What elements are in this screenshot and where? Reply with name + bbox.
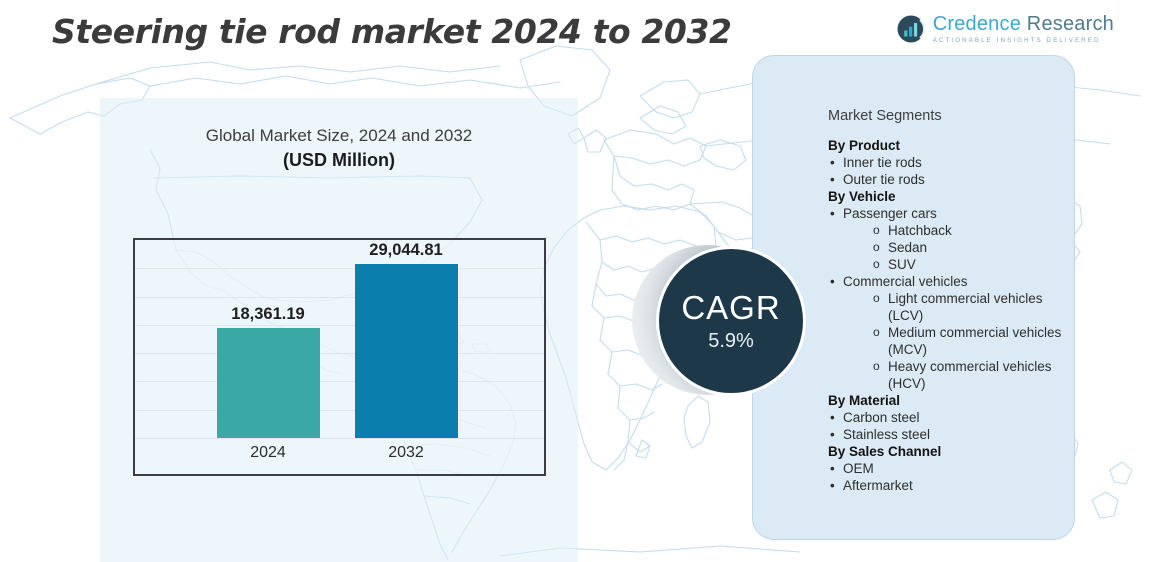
segment-item: Carbon steel [828, 409, 1078, 426]
segment-group-title: By Sales Channel [828, 443, 1078, 460]
cagr-circle: CAGR 5.9% [656, 246, 806, 396]
page-title: Steering tie rod market 2024 to 2032 [52, 12, 732, 51]
cagr-badge: CAGR 5.9% [632, 245, 808, 397]
logo-name-primary: Credence [933, 13, 1021, 35]
market-segments-content: Market Segments By ProductInner tie rods… [828, 108, 1078, 494]
chart-title: Global Market Size, 2024 and 2032 [100, 126, 578, 146]
chart-category-label: 2032 [388, 444, 424, 462]
segment-subitem: Hatchback [828, 222, 1078, 239]
segment-item: OEM [828, 460, 1078, 477]
logo-name: Credence Research [933, 14, 1114, 34]
segment-item: Commercial vehicles [828, 273, 1078, 290]
chart-category-label: 2024 [250, 444, 286, 462]
segment-item: Passenger cars [828, 205, 1078, 222]
market-segments-heading: Market Segments [828, 108, 1078, 124]
bar-chart: 18,361.19202429,044.812032 [133, 238, 546, 476]
cagr-value: 5.9% [708, 331, 754, 351]
segment-subitem: Light commercial vehicles (LCV) [828, 290, 1078, 324]
segment-item: Outer tie rods [828, 171, 1078, 188]
chart-bar: 29,044.812032 [355, 264, 458, 438]
chart-bar-value-label: 29,044.81 [369, 241, 442, 260]
segment-subitem: SUV [828, 256, 1078, 273]
chart-subtitle: (USD Million) [100, 150, 578, 171]
chart-bar: 18,361.192024 [217, 328, 320, 438]
logo-tagline: Actionable Insights Delivered [933, 38, 1114, 44]
market-segments-list: By ProductInner tie rodsOuter tie rodsBy… [828, 137, 1078, 494]
segment-subitem: Sedan [828, 239, 1078, 256]
segment-group-title: By Product [828, 137, 1078, 154]
segment-item: Inner tie rods [828, 154, 1078, 171]
segment-item: Stainless steel [828, 426, 1078, 443]
chart-bar-value-label: 18,361.19 [231, 305, 304, 324]
segment-subitem: Medium commercial vehicles (MCV) [828, 324, 1078, 358]
brand-logo: Credence Research Actionable Insights De… [896, 14, 1114, 44]
segment-group-title: By Material [828, 392, 1078, 409]
segment-group-title: By Vehicle [828, 188, 1078, 205]
infographic-canvas: Steering tie rod market 2024 to 2032 Cre… [0, 0, 1152, 562]
chart-bar-fill [355, 264, 458, 438]
chart-plot-area: 18,361.19202429,044.812032 [135, 240, 544, 474]
logo-name-secondary: Research [1027, 13, 1114, 35]
segment-item: Aftermarket [828, 477, 1078, 494]
bar-chart-circle-icon [896, 14, 926, 44]
cagr-label: CAGR [681, 291, 780, 324]
chart-bar-fill [217, 328, 320, 438]
segment-subitem: Heavy commercial vehicles (HCV) [828, 358, 1078, 392]
